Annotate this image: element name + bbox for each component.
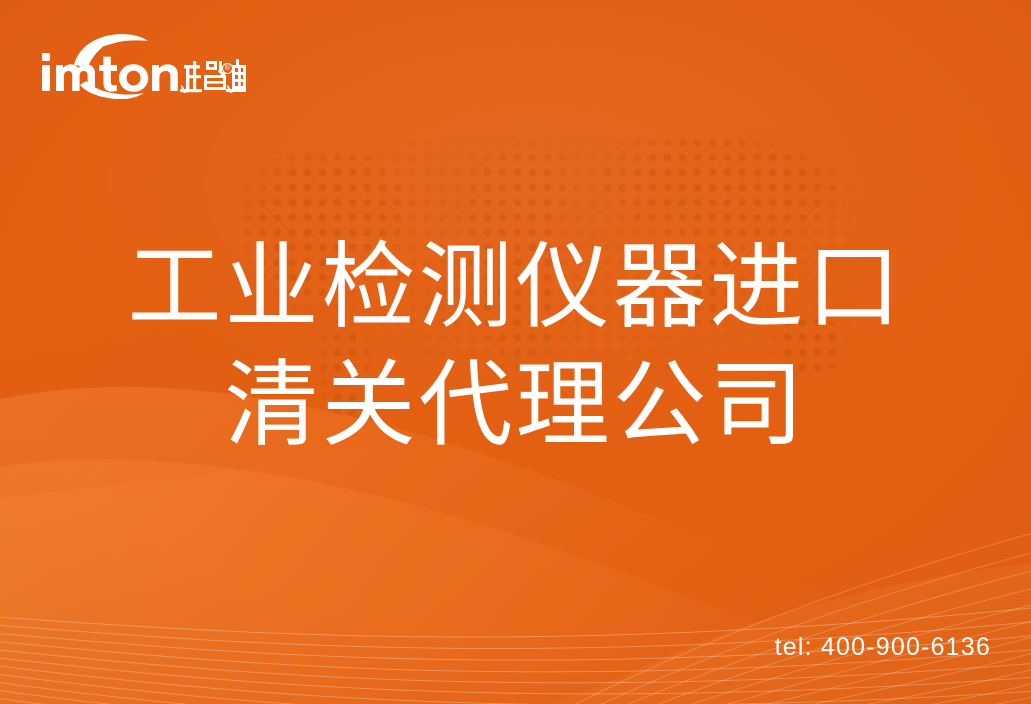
registered-trademark-icon: ® <box>222 63 233 74</box>
globe-logo-icon <box>36 27 246 99</box>
brand-logo[interactable]: ® <box>36 27 246 99</box>
contact-phone[interactable]: tel: 400-900-6136 <box>775 633 991 662</box>
headline-line-2: 清关代理公司 <box>0 346 1031 464</box>
promotional-banner: ® 工业检测仪器进口 清关代理公司 tel: 400-900-6136 <box>0 0 1031 704</box>
headline: 工业检测仪器进口 清关代理公司 <box>0 228 1031 464</box>
headline-line-1: 工业检测仪器进口 <box>0 228 1031 346</box>
